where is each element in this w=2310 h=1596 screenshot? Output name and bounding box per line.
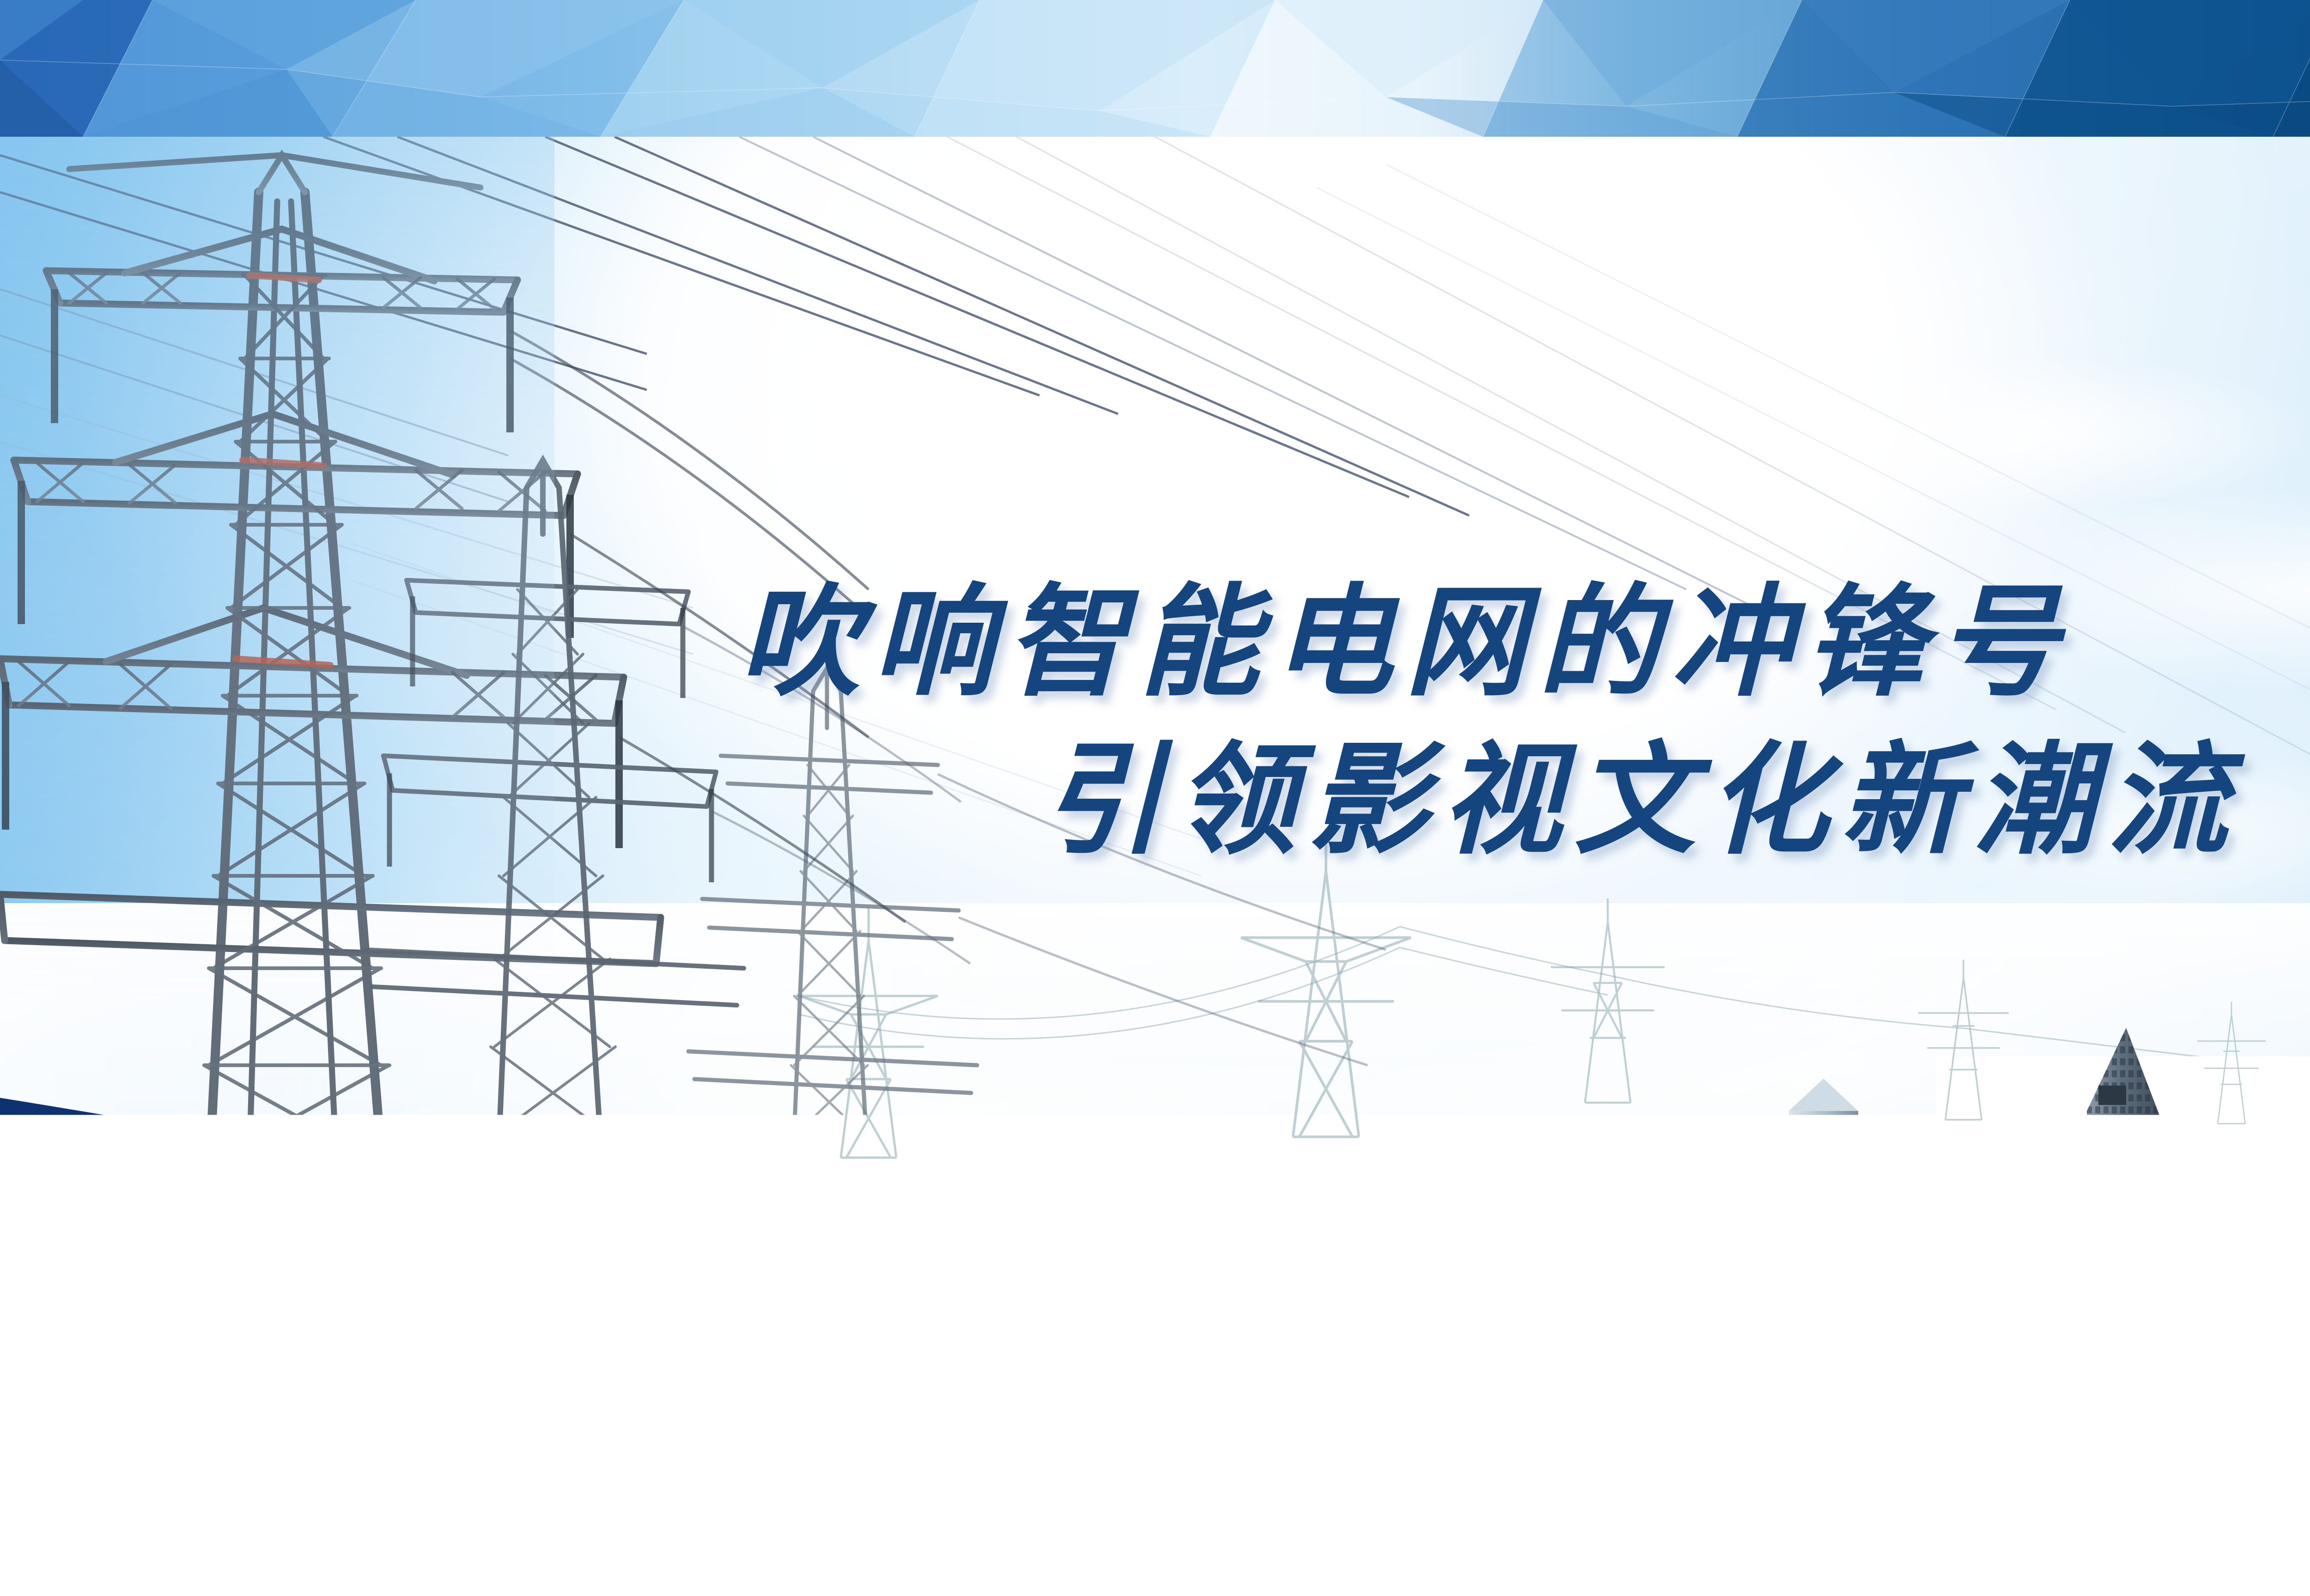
headline-block: 吹响智能电网的冲锋号 引领影视文化新潮流 xyxy=(0,0,2310,1596)
banner-root: 吹响智能电网的冲锋号 引领影视文化新潮流 xyxy=(0,0,2310,1596)
headline-line-2: 引领影视文化新潮流 xyxy=(1042,732,2240,871)
headline-line-1: 吹响智能电网的冲锋号 xyxy=(739,574,2071,713)
